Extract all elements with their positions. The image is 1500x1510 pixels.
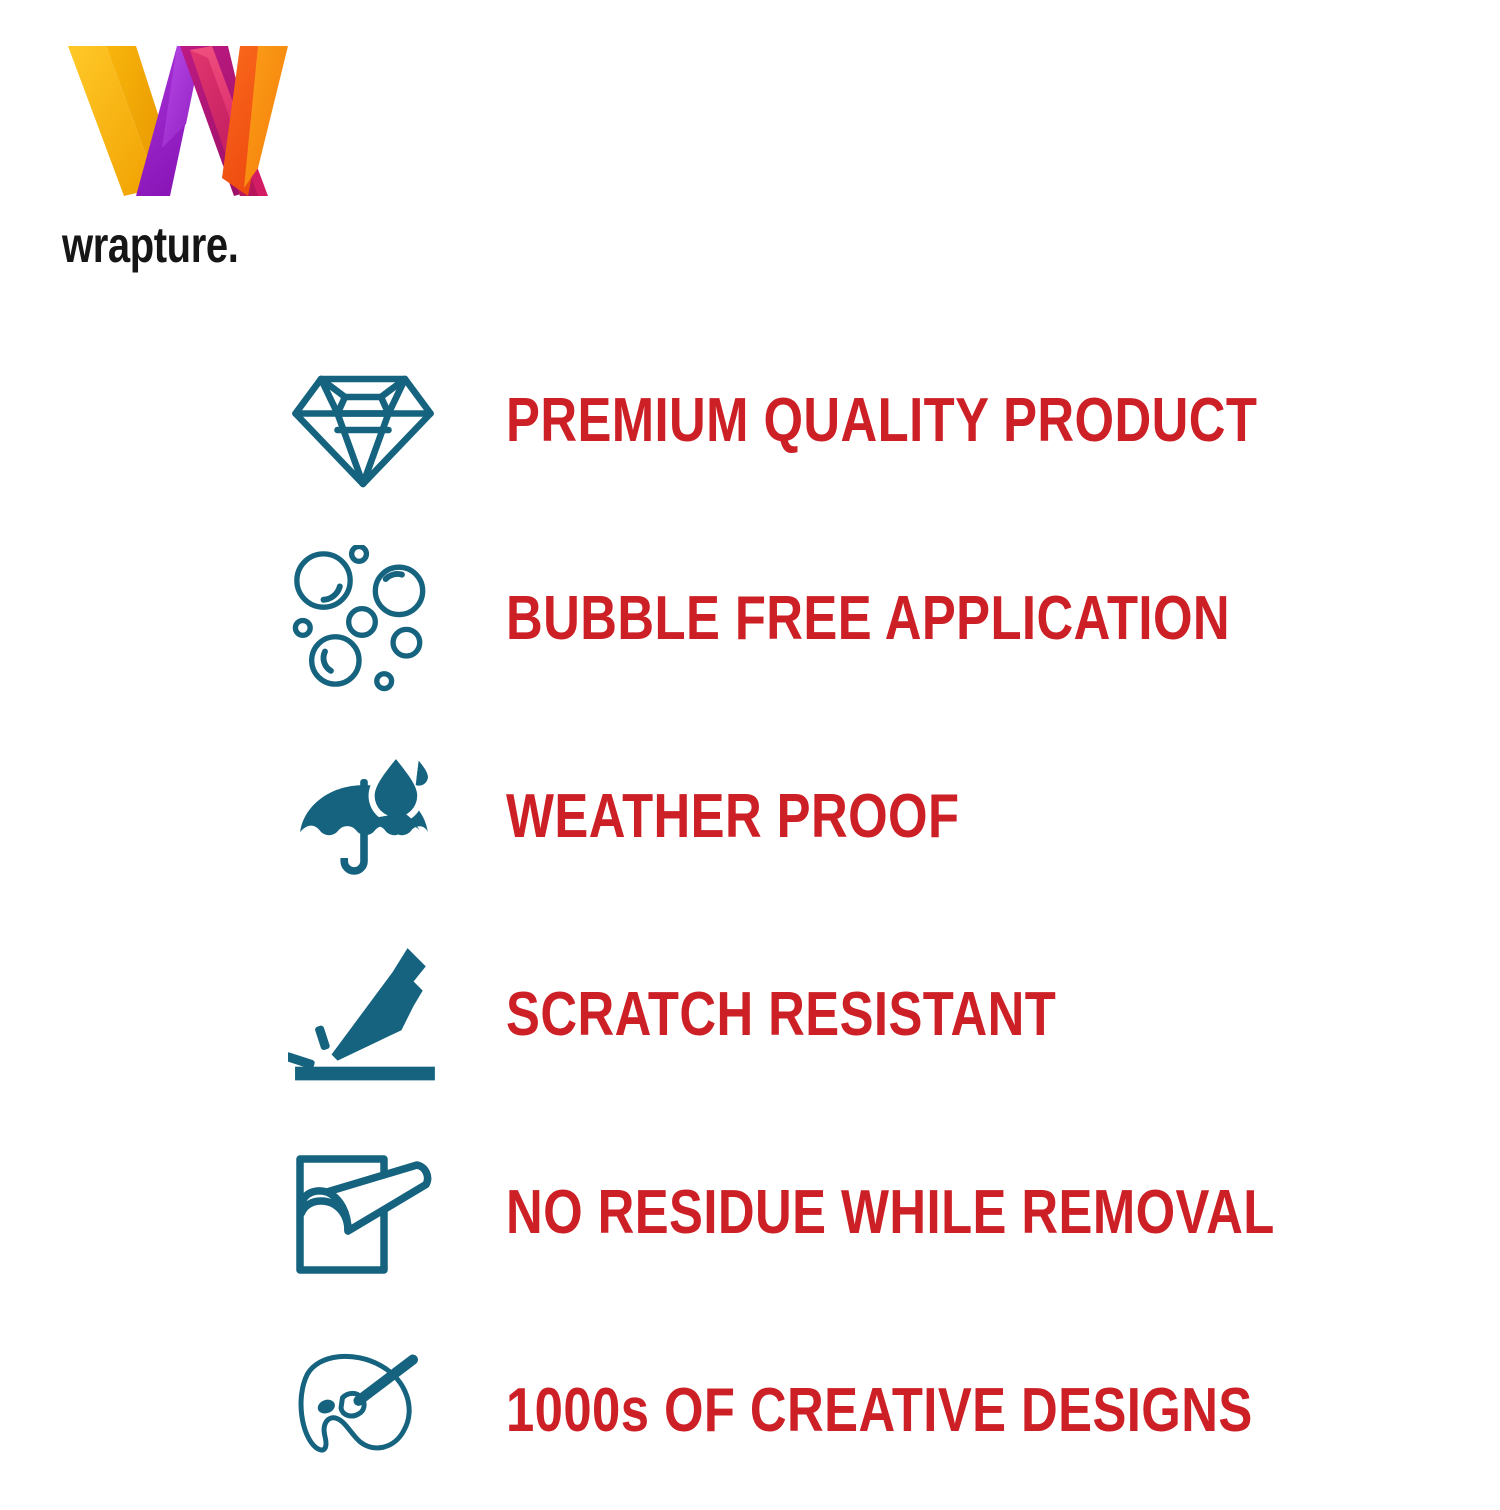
product-feature-infographic: wrapture. PREMIUM QUALITY PRODUCT — [0, 0, 1500, 1500]
brand-wordmark: wrapture. — [62, 220, 326, 270]
feature-row-scratch-resistant: SCRATCH RESISTANT — [0, 916, 1500, 1114]
feature-row-weather-proof: WEATHER PROOF — [0, 718, 1500, 916]
peel-film-icon — [288, 1133, 488, 1293]
blade-scratch-icon — [288, 935, 488, 1095]
feature-row-no-residue: NO RESIDUE WHILE REMOVAL — [0, 1114, 1500, 1312]
umbrella-rain-icon — [288, 737, 488, 897]
feature-label: PREMIUM QUALITY PRODUCT — [506, 390, 1257, 452]
feature-label: WEATHER PROOF — [506, 786, 959, 848]
feature-list: PREMIUM QUALITY PRODUCT B — [0, 322, 1500, 1510]
diamond-icon — [288, 341, 488, 501]
feature-label: SCRATCH RESISTANT — [506, 984, 1056, 1046]
feature-label: NO RESIDUE WHILE REMOVAL — [506, 1182, 1275, 1244]
feature-label: BUBBLE FREE APPLICATION — [506, 588, 1230, 650]
feature-row-bubble-free: BUBBLE FREE APPLICATION — [0, 520, 1500, 718]
feature-row-creative-designs: 1000s OF CREATIVE DESIGNS — [0, 1312, 1500, 1510]
feature-label: 1000s OF CREATIVE DESIGNS — [506, 1380, 1253, 1442]
brand-block: wrapture. — [62, 28, 392, 270]
paint-palette-icon — [288, 1331, 488, 1491]
wrapture-w-ribbon-logo — [62, 28, 392, 206]
bubbles-icon — [288, 539, 488, 699]
feature-row-premium-quality: PREMIUM QUALITY PRODUCT — [0, 322, 1500, 520]
